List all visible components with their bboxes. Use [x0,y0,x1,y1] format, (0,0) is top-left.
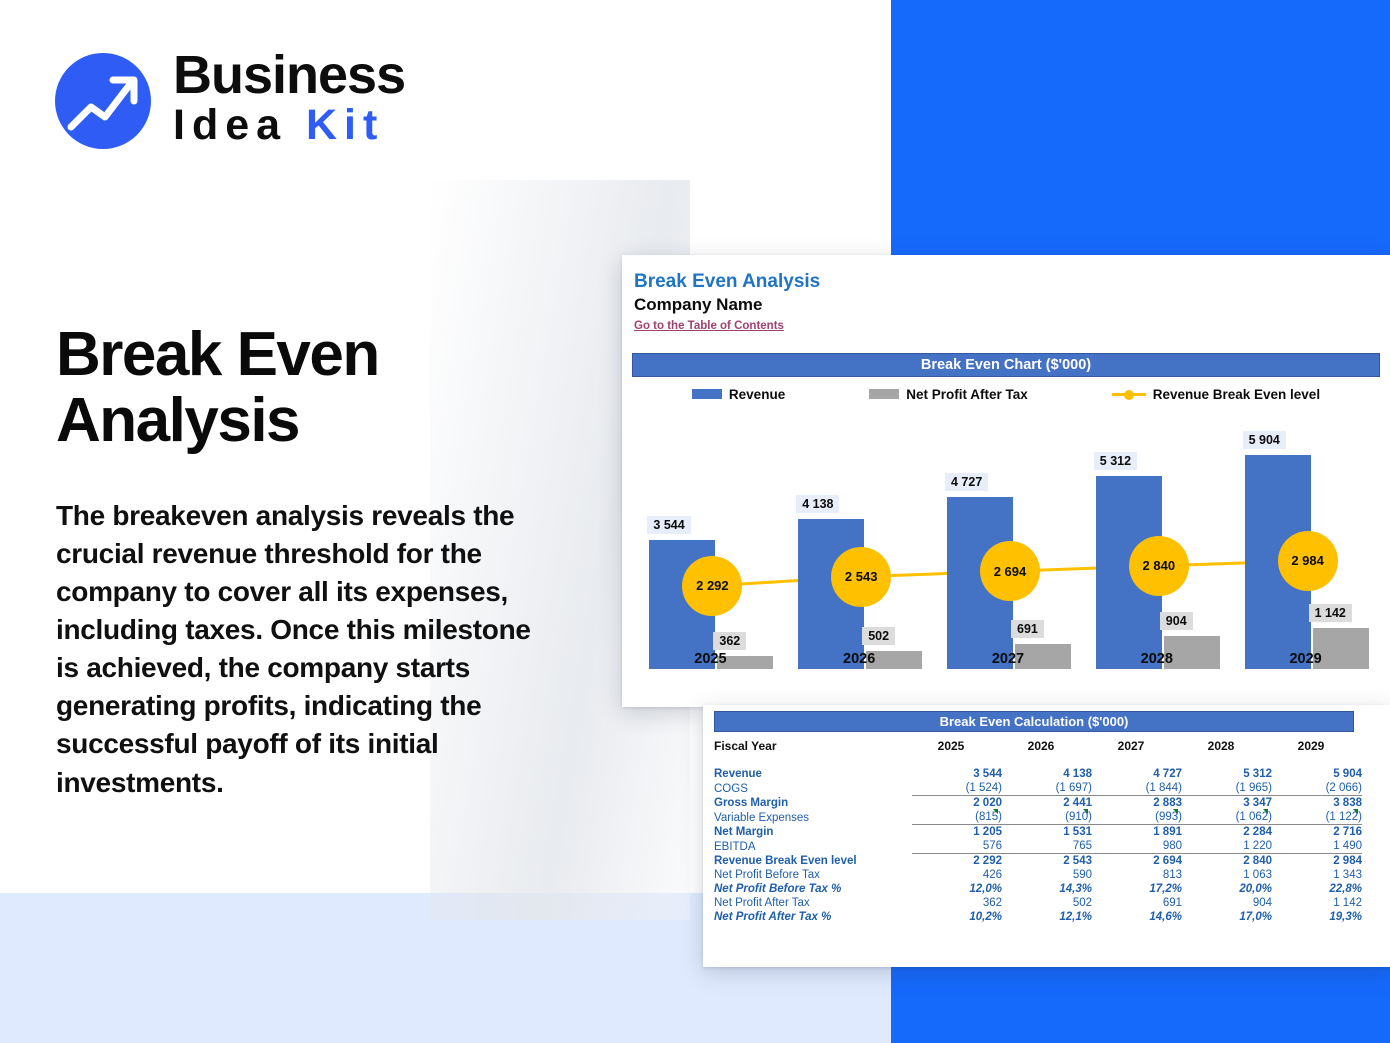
growth-arrow-icon [55,53,151,149]
break-even-marker-2028[interactable]: 2 840 [1129,536,1189,596]
table-cell: 5 312 [1182,767,1272,781]
table-column-header-2028: 2028 [1182,738,1272,756]
table-cell: 22,8% [1272,882,1362,896]
table-row: EBITDA5767659801 2201 490 [714,839,1362,854]
table-cell: 4 138 [1002,767,1092,781]
table-row: Net Profit Before Tax4265908131 0631 343 [714,868,1362,882]
table-row-header-label: Fiscal Year [714,738,912,756]
table-row: Net Profit Before Tax %12,0%14,3%17,2%20… [714,882,1362,896]
table-row-label: Net Profit Before Tax [714,868,912,882]
table-cell: 576 [912,839,1002,854]
table-cell: 2 716 [1272,825,1362,840]
net-profit-value-label-2026: 502 [862,627,895,645]
table-cell: 426 [912,868,1002,882]
table-cell: 3 838 [1272,796,1362,811]
table-cell: 2 543 [1002,854,1092,869]
table-cell: 14,3% [1002,882,1092,896]
legend-label-revenue: Revenue [729,387,785,402]
table-cell: 1 531 [1002,825,1092,840]
table-cell: 20,0% [1182,882,1272,896]
table-cell: 904 [1182,896,1272,910]
table-row-label: Variable Expenses [714,810,912,825]
chart-group-2025: 3 5443622025 [641,433,779,669]
table-row: Net Profit After Tax3625026919041 142 [714,896,1362,910]
table-cell: (1 697) [1002,781,1092,796]
table-row: Revenue3 5444 1384 7275 3125 904 [714,767,1362,781]
table-cell: (1 844) [1092,781,1182,796]
table-cell: 4 727 [1092,767,1182,781]
table-banner-title: Break Even Calculation ($'000) [714,711,1354,732]
brand-idea-text: Idea [173,101,306,149]
revenue-value-label-2027: 4 727 [945,473,988,491]
table-cell: 2 284 [1182,825,1272,840]
table-cell: 2 020 [912,796,1002,811]
break-even-marker-2025[interactable]: 2 292 [682,556,742,616]
break-even-calculation-table: Fiscal Year20252026202720282029Revenue3 … [714,738,1362,924]
x-axis-tick-2026: 2026 [790,651,928,667]
table-cell: 19,3% [1272,910,1362,924]
table-row: Variable Expenses(815)(910)(993)(1 062)(… [714,810,1362,825]
x-axis-tick-2029: 2029 [1237,651,1375,667]
table-cell: 980 [1092,839,1182,854]
table-row: Gross Margin2 0202 4412 8833 3473 838 [714,796,1362,811]
brand-kit-text: Kit [306,101,384,149]
table-cell: 1 343 [1272,868,1362,882]
legend-label-net-profit-after-tax: Net Profit After Tax [906,387,1028,402]
x-axis-tick-2027: 2027 [939,651,1077,667]
table-cell: 1 063 [1182,868,1272,882]
x-axis-tick-2028: 2028 [1088,651,1226,667]
table-cell: 590 [1002,868,1092,882]
table-cell: 765 [1002,839,1092,854]
break-even-marker-2027[interactable]: 2 694 [980,541,1040,601]
page-title: Break Even Analysis [56,322,526,453]
company-name: Company Name [634,294,1390,315]
table-cell: 2 694 [1092,854,1182,869]
net-profit-value-label-2025: 362 [713,632,746,650]
table-cell: (2 066) [1272,781,1362,796]
legend-item-revenue[interactable]: Revenue [692,387,785,402]
legend-swatch-net-profit-after-tax [869,389,899,399]
legend-swatch-break-even-level [1112,388,1146,400]
legend-item-break-even-level[interactable]: Revenue Break Even level [1112,387,1320,402]
table-cell: 2 984 [1272,854,1362,869]
brand-logo: Business Idea Kit [55,46,435,156]
table-column-header-2026: 2026 [1002,738,1092,756]
table-cell: 813 [1092,868,1182,882]
table-row: Revenue Break Even level2 2922 5432 6942… [714,854,1362,869]
revenue-value-label-2026: 4 138 [796,495,839,513]
table-cell: 3 544 [912,767,1002,781]
chart-banner-title: Break Even Chart ($'000) [632,353,1380,377]
table-cell: 502 [1002,896,1092,910]
table-spacer-row [714,756,1362,767]
table-row-label: Revenue Break Even level [714,854,912,869]
table-cell: 5 904 [1272,767,1362,781]
table-column-header-2025: 2025 [912,738,1002,756]
break-even-calculation-card: Break Even Calculation ($'000) Fiscal Ye… [703,705,1390,967]
table-row: Net Profit After Tax %10,2%12,1%14,6%17,… [714,910,1362,924]
table-column-header-2029: 2029 [1272,738,1362,756]
table-cell: 2 840 [1182,854,1272,869]
brand-name-secondary: Idea Kit [173,104,405,147]
table-cell: 17,0% [1182,910,1272,924]
table-cell: 17,2% [1092,882,1182,896]
table-row-label: EBITDA [714,839,912,854]
legend-swatch-revenue [692,389,722,399]
net-profit-value-label-2028: 904 [1160,612,1193,630]
table-cell: 12,0% [912,882,1002,896]
table-cell: 1 142 [1272,896,1362,910]
revenue-value-label-2029: 5 904 [1243,431,1286,449]
break-even-marker-2026[interactable]: 2 543 [831,547,891,607]
table-cell: (1 122) [1272,810,1362,825]
table-cell: (1 524) [912,781,1002,796]
table-cell: 2 441 [1002,796,1092,811]
table-header-row: Fiscal Year20252026202720282029 [714,738,1362,756]
table-cell: 10,2% [912,910,1002,924]
table-cell: 14,6% [1092,910,1182,924]
chart-legend: Revenue Net Profit After Tax Revenue Bre… [632,383,1380,405]
table-row-label: Revenue [714,767,912,781]
table-row-label: Net Profit After Tax [714,896,912,910]
table-row-label: Net Profit After Tax % [714,910,912,924]
table-cell: 2 883 [1092,796,1182,811]
table-cell: 1 220 [1182,839,1272,854]
revenue-value-label-2028: 5 312 [1094,452,1137,470]
table-cell: (1 062) [1182,810,1272,825]
table-cell: 362 [912,896,1002,910]
table-cell: 691 [1092,896,1182,910]
table-cell: 12,1% [1002,910,1092,924]
sheet-title: Break Even Analysis [634,271,1390,293]
table-cell: 3 347 [1182,796,1272,811]
table-cell: (815) [912,810,1002,825]
table-row: Net Margin1 2051 5311 8912 2842 716 [714,825,1362,840]
table-cell: 1 490 [1272,839,1362,854]
table-row-label: Gross Margin [714,796,912,811]
table-cell: (993) [1092,810,1182,825]
page-description: The breakeven analysis reveals the cruci… [56,497,546,802]
table-of-contents-link[interactable]: Go to the Table of Contents [634,320,784,332]
brand-name-primary: Business [173,48,405,102]
chart-plot-area: 3 54436220252 2924 13850220262 5434 7276… [636,415,1380,705]
table-row: COGS(1 524)(1 697)(1 844)(1 965)(2 066) [714,781,1362,796]
table-cell: (910) [1002,810,1092,825]
break-even-marker-2029[interactable]: 2 984 [1278,531,1338,591]
table-row-label: Net Profit Before Tax % [714,882,912,896]
net-profit-value-label-2027: 691 [1011,620,1044,638]
net-profit-value-label-2029: 1 142 [1309,604,1352,622]
legend-item-net-profit-after-tax[interactable]: Net Profit After Tax [869,387,1028,402]
table-row-label: Net Margin [714,825,912,840]
table-cell: 1 205 [912,825,1002,840]
x-axis-tick-2025: 2025 [641,651,779,667]
table-row-label: COGS [714,781,912,796]
table-cell: 2 292 [912,854,1002,869]
revenue-value-label-2025: 3 544 [647,516,690,534]
decorative-panel-bottom-right [891,967,1390,1043]
chart-card-header: Break Even Analysis Company Name Go to t… [622,255,1390,334]
legend-label-break-even-level: Revenue Break Even level [1153,387,1320,402]
break-even-chart-card: Break Even Analysis Company Name Go to t… [622,255,1390,707]
table-column-header-2027: 2027 [1092,738,1182,756]
table-cell: (1 965) [1182,781,1272,796]
table-cell: 1 891 [1092,825,1182,840]
decorative-panel-top-right [891,0,1390,255]
